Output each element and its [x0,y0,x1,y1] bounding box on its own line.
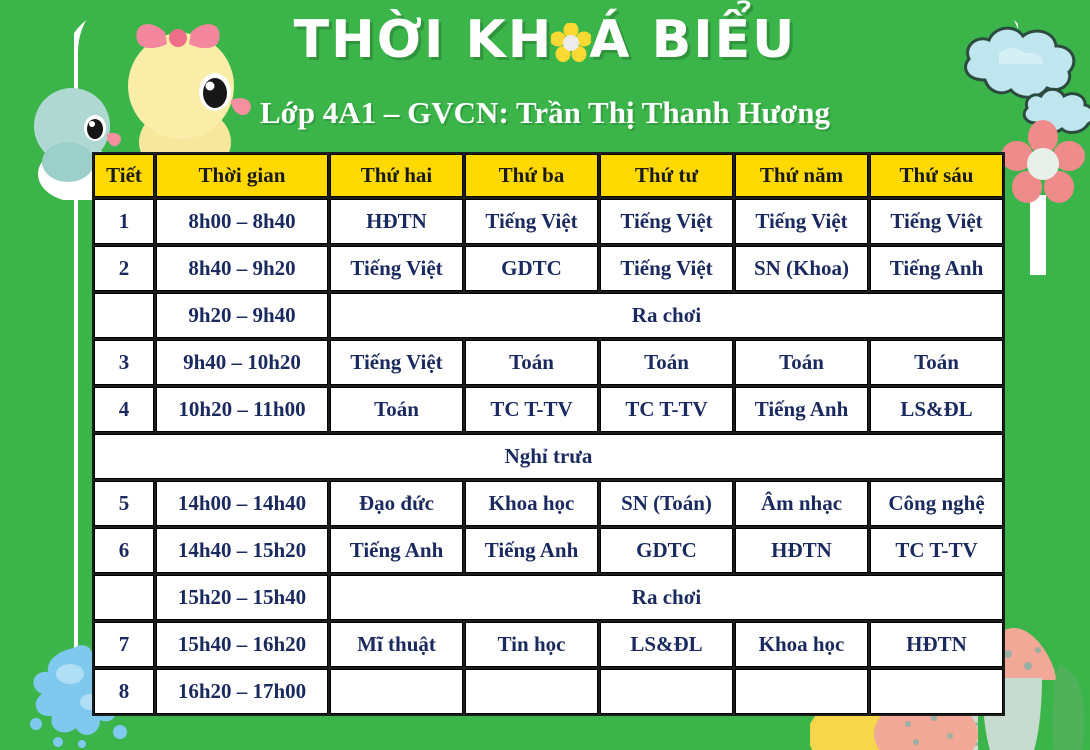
cell-time: 8h00 – 8h40 [156,199,328,244]
cell-subject[interactable]: Toán [330,387,463,432]
cell-subject[interactable] [465,669,598,714]
cell-subject[interactable] [735,669,868,714]
cell-period: 3 [94,340,154,385]
page-subtitle: Lớp 4A1 – GVCN: Trần Thị Thanh Hương [0,95,1090,131]
cell-subject[interactable]: Tiếng Anh [330,528,463,573]
table-row: Nghỉ trưa [94,434,1003,479]
cell-subject[interactable]: TC T-TV [870,528,1003,573]
cell-time: 15h40 – 16h20 [156,622,328,667]
cell-subject[interactable]: TC T-TV [600,387,733,432]
cell-subject[interactable]: Tiếng Anh [465,528,598,573]
column-header-thursday: Thứ năm [735,154,868,197]
cell-subject[interactable] [870,669,1003,714]
timetable: Tiết Thời gian Thứ hai Thứ ba Thứ tư Thứ… [92,152,1005,716]
column-header-wednesday: Thứ tư [600,154,733,197]
cell-subject[interactable]: HĐTN [870,622,1003,667]
recess-break-cell: Ra chơi [330,293,1003,338]
cell-subject[interactable]: Âm nhạc [735,481,868,526]
table-row: 514h00 – 14h40Đạo đứcKhoa họcSN (Toán)Âm… [94,481,1003,526]
timetable-body: 18h00 – 8h40HĐTNTiếng ViệtTiếng ViệtTiến… [94,199,1003,714]
table-row: 816h20 – 17h00 [94,669,1003,714]
cell-time: 8h40 – 9h20 [156,246,328,291]
table-row: 18h00 – 8h40HĐTNTiếng ViệtTiếng ViệtTiến… [94,199,1003,244]
cell-time: 15h20 – 15h40 [156,575,328,620]
cell-subject[interactable]: Tiếng Việt [870,199,1003,244]
table-row: 39h40 – 10h20Tiếng ViệtToánToánToánToán [94,340,1003,385]
cell-subject[interactable]: GDTC [600,528,733,573]
schedule-poster: THỜI KH Á BIỂU Lớp 4A1 – GVCN: Trần Thị … [0,0,1090,750]
cell-subject[interactable]: Toán [870,340,1003,385]
page-title-wrap: THỜI KH Á BIỂU [0,14,1090,66]
cell-subject[interactable]: Đạo đức [330,481,463,526]
cell-subject[interactable]: Toán [735,340,868,385]
cell-subject[interactable]: HĐTN [735,528,868,573]
table-header-row: Tiết Thời gian Thứ hai Thứ ba Thứ tư Thứ… [94,154,1003,197]
page-title: THỜI KH Á BIỂU [294,14,797,66]
column-header-tuesday: Thứ ba [465,154,598,197]
cell-subject[interactable]: Tiếng Việt [600,199,733,244]
column-header-period: Tiết [94,154,154,197]
cell-subject[interactable]: LS&ĐL [600,622,733,667]
cell-period: 1 [94,199,154,244]
cell-period: 4 [94,387,154,432]
cell-time: 14h40 – 15h20 [156,528,328,573]
cell-subject[interactable]: Tiếng Anh [870,246,1003,291]
cell-subject[interactable]: Công nghệ [870,481,1003,526]
cell-time: 9h20 – 9h40 [156,293,328,338]
table-row: 28h40 – 9h20Tiếng ViệtGDTCTiếng ViệtSN (… [94,246,1003,291]
cell-subject[interactable] [600,669,733,714]
cell-subject[interactable]: Tiếng Anh [735,387,868,432]
cell-period: 7 [94,622,154,667]
cell-subject[interactable]: SN (Toán) [600,481,733,526]
column-header-time: Thời gian [156,154,328,197]
cell-subject[interactable]: Toán [600,340,733,385]
cell-time: 10h20 – 11h00 [156,387,328,432]
cell-subject[interactable]: HĐTN [330,199,463,244]
cell-time: 16h20 – 17h00 [156,669,328,714]
pink-flower-icon [1000,120,1086,212]
cell-time: 14h00 – 14h40 [156,481,328,526]
cell-subject[interactable]: Tiếng Việt [330,340,463,385]
lunch-break-cell: Nghỉ trưa [94,434,1003,479]
cell-subject[interactable]: Toán [465,340,598,385]
cell-subject[interactable]: Mĩ thuật [330,622,463,667]
cell-period: 2 [94,246,154,291]
table-row: 15h20 – 15h40Ra chơi [94,575,1003,620]
cell-subject[interactable]: Tin học [465,622,598,667]
table-row: 715h40 – 16h20Mĩ thuậtTin họcLS&ĐLKhoa h… [94,622,1003,667]
cell-period: 6 [94,528,154,573]
cell-period: 5 [94,481,154,526]
cell-period [94,575,154,620]
cell-subject[interactable]: GDTC [465,246,598,291]
timetable-wrap: Tiết Thời gian Thứ hai Thứ ba Thứ tư Thứ… [92,152,995,716]
cell-subject[interactable]: LS&ĐL [870,387,1003,432]
cell-subject[interactable]: Tiếng Việt [330,246,463,291]
cell-subject[interactable]: Tiếng Việt [735,199,868,244]
table-row: 614h40 – 15h20Tiếng AnhTiếng AnhGDTCHĐTN… [94,528,1003,573]
cell-period [94,293,154,338]
cell-subject[interactable]: Tiếng Việt [465,199,598,244]
title-flower-icon [551,20,591,60]
recess-break-cell: Ra chơi [330,575,1003,620]
cell-subject[interactable]: TC T-TV [465,387,598,432]
title-part-1: THỜI KH [294,10,554,70]
title-part-2: Á BIỂU [589,10,796,70]
cell-subject[interactable] [330,669,463,714]
cell-subject[interactable]: Khoa học [735,622,868,667]
column-header-friday: Thứ sáu [870,154,1003,197]
table-row: 410h20 – 11h00ToánTC T-TVTC T-TVTiếng An… [94,387,1003,432]
cell-subject[interactable]: SN (Khoa) [735,246,868,291]
table-row: 9h20 – 9h40Ra chơi [94,293,1003,338]
column-header-monday: Thứ hai [330,154,463,197]
cell-period: 8 [94,669,154,714]
cell-subject[interactable]: Tiếng Việt [600,246,733,291]
cell-time: 9h40 – 10h20 [156,340,328,385]
cell-subject[interactable]: Khoa học [465,481,598,526]
